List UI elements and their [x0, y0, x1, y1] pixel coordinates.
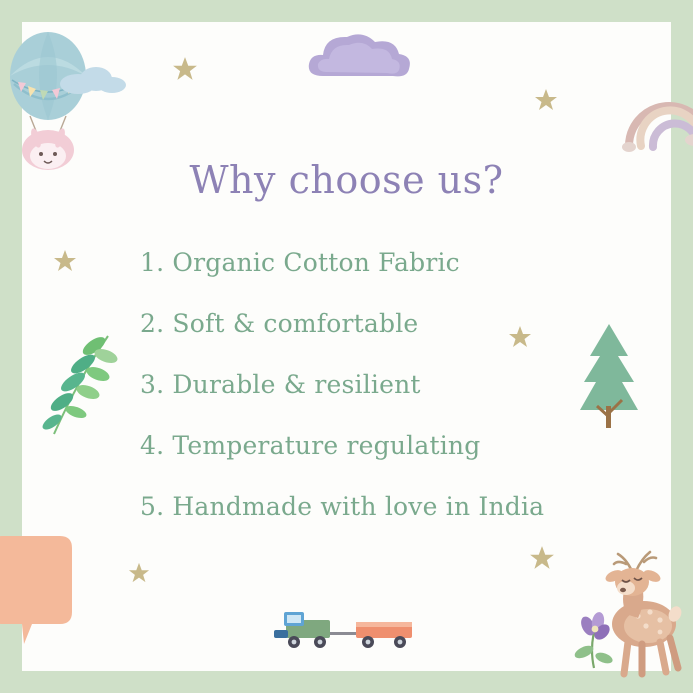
- list-item: 3. Durable & resilient: [140, 354, 570, 415]
- pine-tree-icon: [566, 320, 652, 430]
- poster-canvas: Why choose us? 1. Organic Cotton Fabric …: [0, 0, 693, 693]
- star-gold-icon: [128, 562, 150, 584]
- page-title: Why choose us?: [0, 158, 693, 202]
- cloud-lavender-icon: [305, 28, 415, 86]
- leafy-branch-icon: [38, 330, 118, 440]
- cloud-small-blue-icon: [58, 62, 128, 96]
- benefits-list: 1. Organic Cotton Fabric 2. Soft & comfo…: [140, 232, 570, 537]
- rainbow-icon: [625, 78, 693, 148]
- list-item: 2. Soft & comfortable: [140, 293, 570, 354]
- flower-purple-icon: [568, 606, 624, 672]
- list-item: 4. Temperature regulating: [140, 415, 570, 476]
- list-item: 1. Organic Cotton Fabric: [140, 232, 570, 293]
- star-gold-icon: [529, 545, 555, 571]
- star-gold-icon: [172, 56, 198, 82]
- star-gold-icon: [534, 88, 558, 112]
- star-gold-icon: [53, 249, 77, 273]
- hot-air-balloon-icon: [0, 18, 120, 178]
- toy-train-icon: [268, 600, 428, 656]
- list-item: 5. Handmade with love in India: [140, 476, 570, 537]
- speech-bubble-peach-icon: [2, 536, 88, 654]
